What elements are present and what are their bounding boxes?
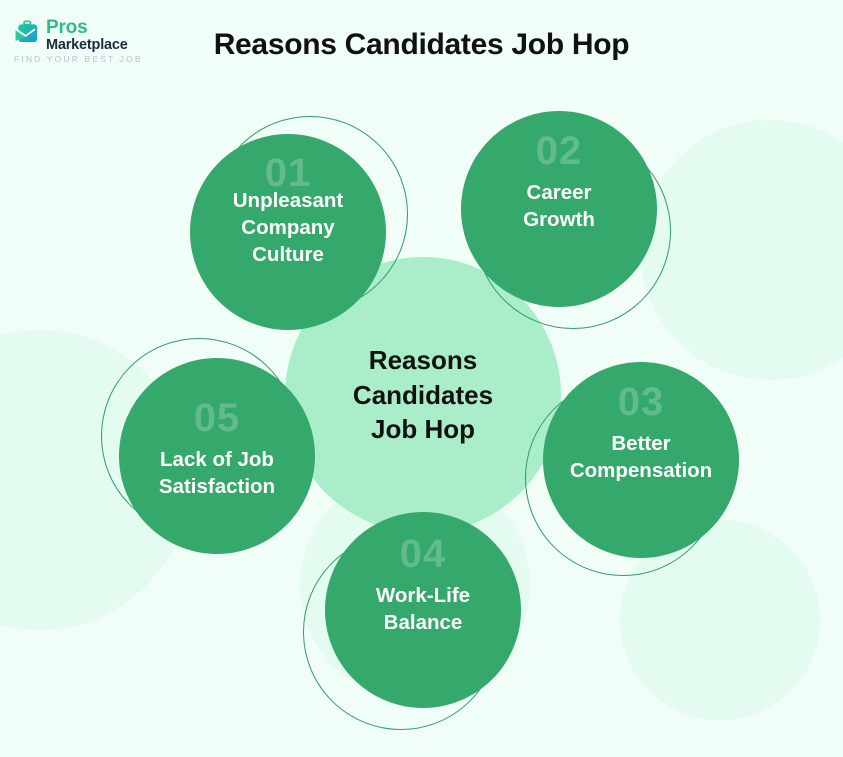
infographic-canvas: Pros Marketplace FIND YOUR BEST JOB Reas…: [0, 0, 843, 757]
node-disc: 03 Better Compensation: [543, 362, 739, 558]
node-label: Better Compensation: [543, 430, 739, 484]
node-disc: 04 Work-Life Balance: [325, 512, 521, 708]
node-label: Lack of Job Satisfaction: [119, 446, 315, 500]
node-number: 05: [119, 398, 315, 438]
diagram-node-unpleasant-company-culture[interactable]: 01 Unpleasant Company Culture: [190, 116, 410, 332]
node-disc: 05 Lack of Job Satisfaction: [119, 358, 315, 554]
node-label: Career Growth: [461, 179, 657, 233]
page-title: Reasons Candidates Job Hop: [0, 28, 843, 62]
node-number: 03: [543, 382, 739, 422]
node-label: Work-Life Balance: [325, 582, 521, 636]
diagram-node-better-compensation[interactable]: 03 Better Compensation: [525, 362, 741, 578]
node-disc: 02 Career Growth: [461, 111, 657, 307]
diagram-center-label: Reasons Candidates Job Hop: [353, 343, 493, 447]
node-label: Unpleasant Company Culture: [190, 187, 386, 268]
diagram-node-work-life-balance[interactable]: 04 Work-Life Balance: [303, 512, 523, 732]
diagram-node-lack-of-job-satisfaction[interactable]: 05 Lack of Job Satisfaction: [101, 338, 317, 556]
node-number: 02: [461, 131, 657, 171]
node-number: 04: [325, 534, 521, 574]
node-disc: 01 Unpleasant Company Culture: [190, 134, 386, 330]
diagram-node-career-growth[interactable]: 02 Career Growth: [461, 111, 673, 331]
